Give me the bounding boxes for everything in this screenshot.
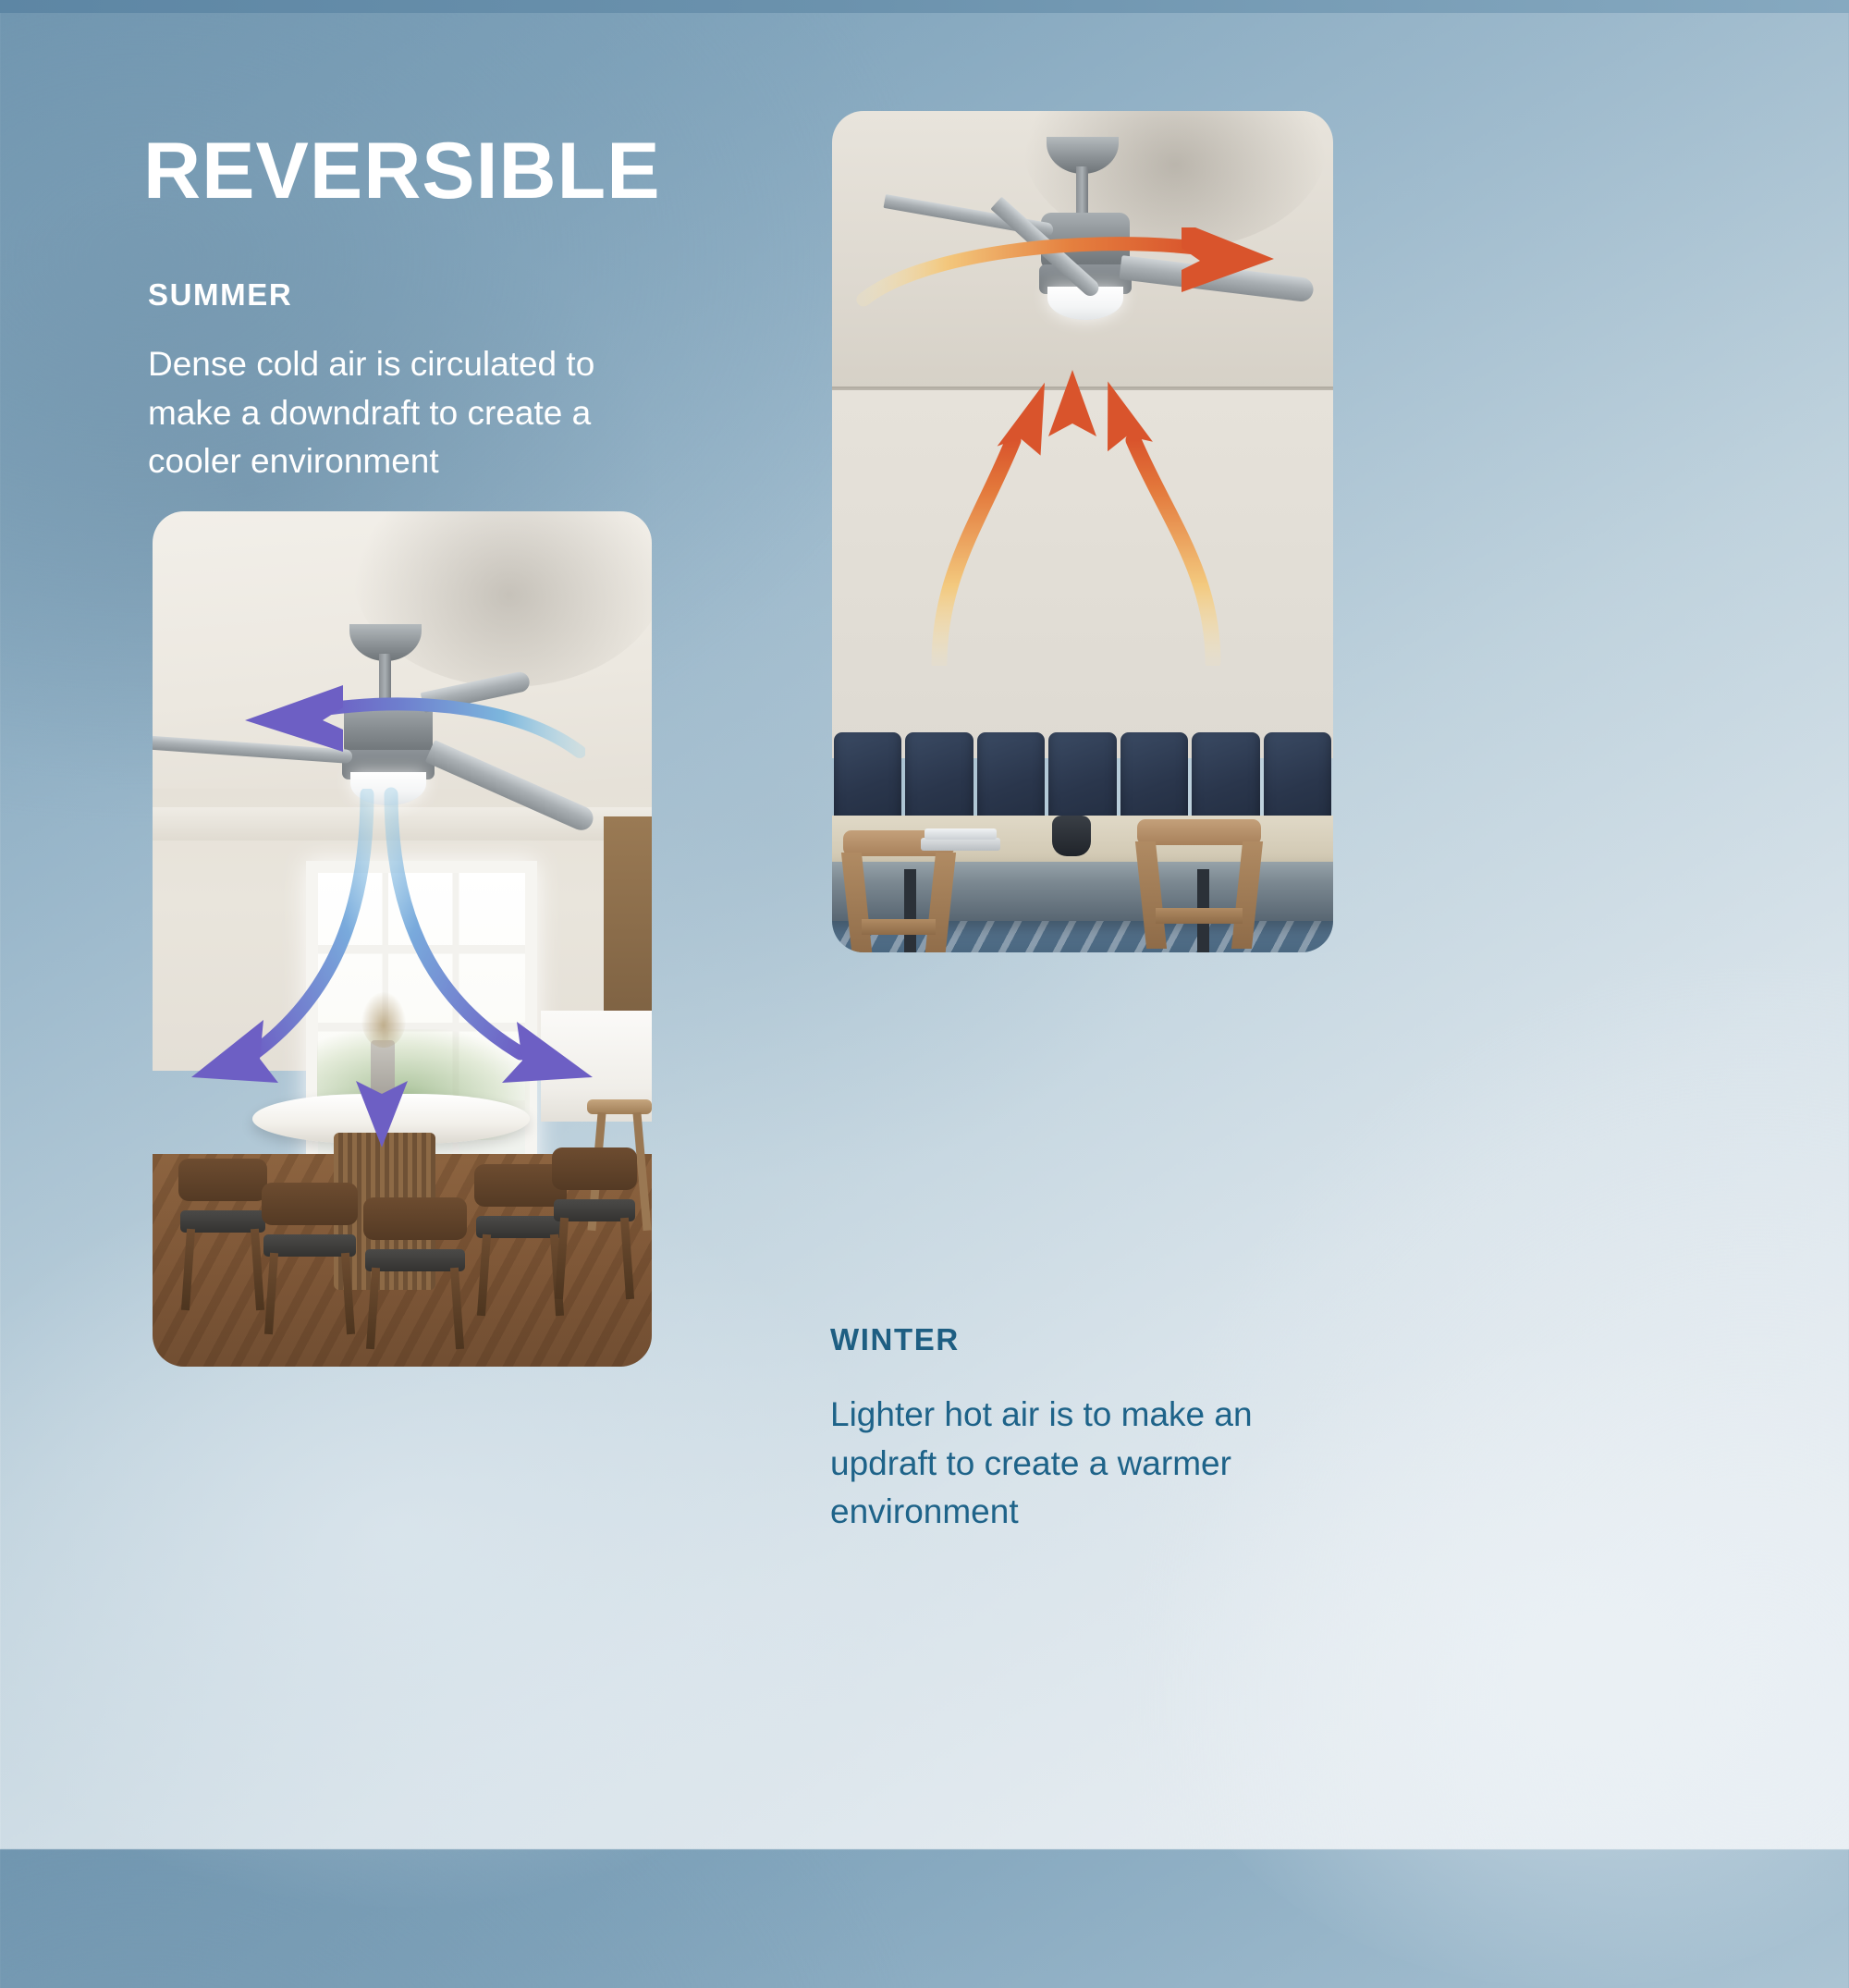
teapot: [1052, 816, 1091, 856]
winter-body-text: Lighter hot air is to make an updraft to…: [830, 1391, 1311, 1537]
book-stack: [921, 838, 1000, 851]
page-title: REVERSIBLE: [143, 129, 661, 213]
summer-photo-card: [153, 511, 652, 1367]
winter-heading: WINTER: [830, 1322, 1311, 1357]
book-top: [924, 828, 997, 840]
top-accent-strip: [0, 0, 1849, 13]
winter-updraft-arrow-right-icon: [1074, 379, 1222, 666]
wood-cabinet: [604, 816, 652, 1029]
wooden-stool-right: [1137, 819, 1261, 952]
winter-photo-card: [832, 111, 1333, 952]
dining-chair-3: [363, 1197, 467, 1367]
summer-body-text: Dense cold air is circulated to make a d…: [148, 340, 647, 486]
dining-chair-5: [552, 1147, 637, 1297]
winter-text-block: WINTER Lighter hot air is to make an upd…: [830, 1322, 1311, 1537]
summer-heading: SUMMER: [148, 277, 647, 313]
summer-downdraft-arrow-right-icon: [382, 785, 596, 1118]
dining-chair-1: [178, 1159, 267, 1316]
dining-chair-2: [262, 1183, 358, 1347]
summer-text-block: SUMMER Dense cold air is circulated to m…: [148, 277, 647, 486]
winter-sweep-arrow-icon: [856, 227, 1291, 348]
summer-sweep-arrow-icon: [188, 683, 585, 792]
